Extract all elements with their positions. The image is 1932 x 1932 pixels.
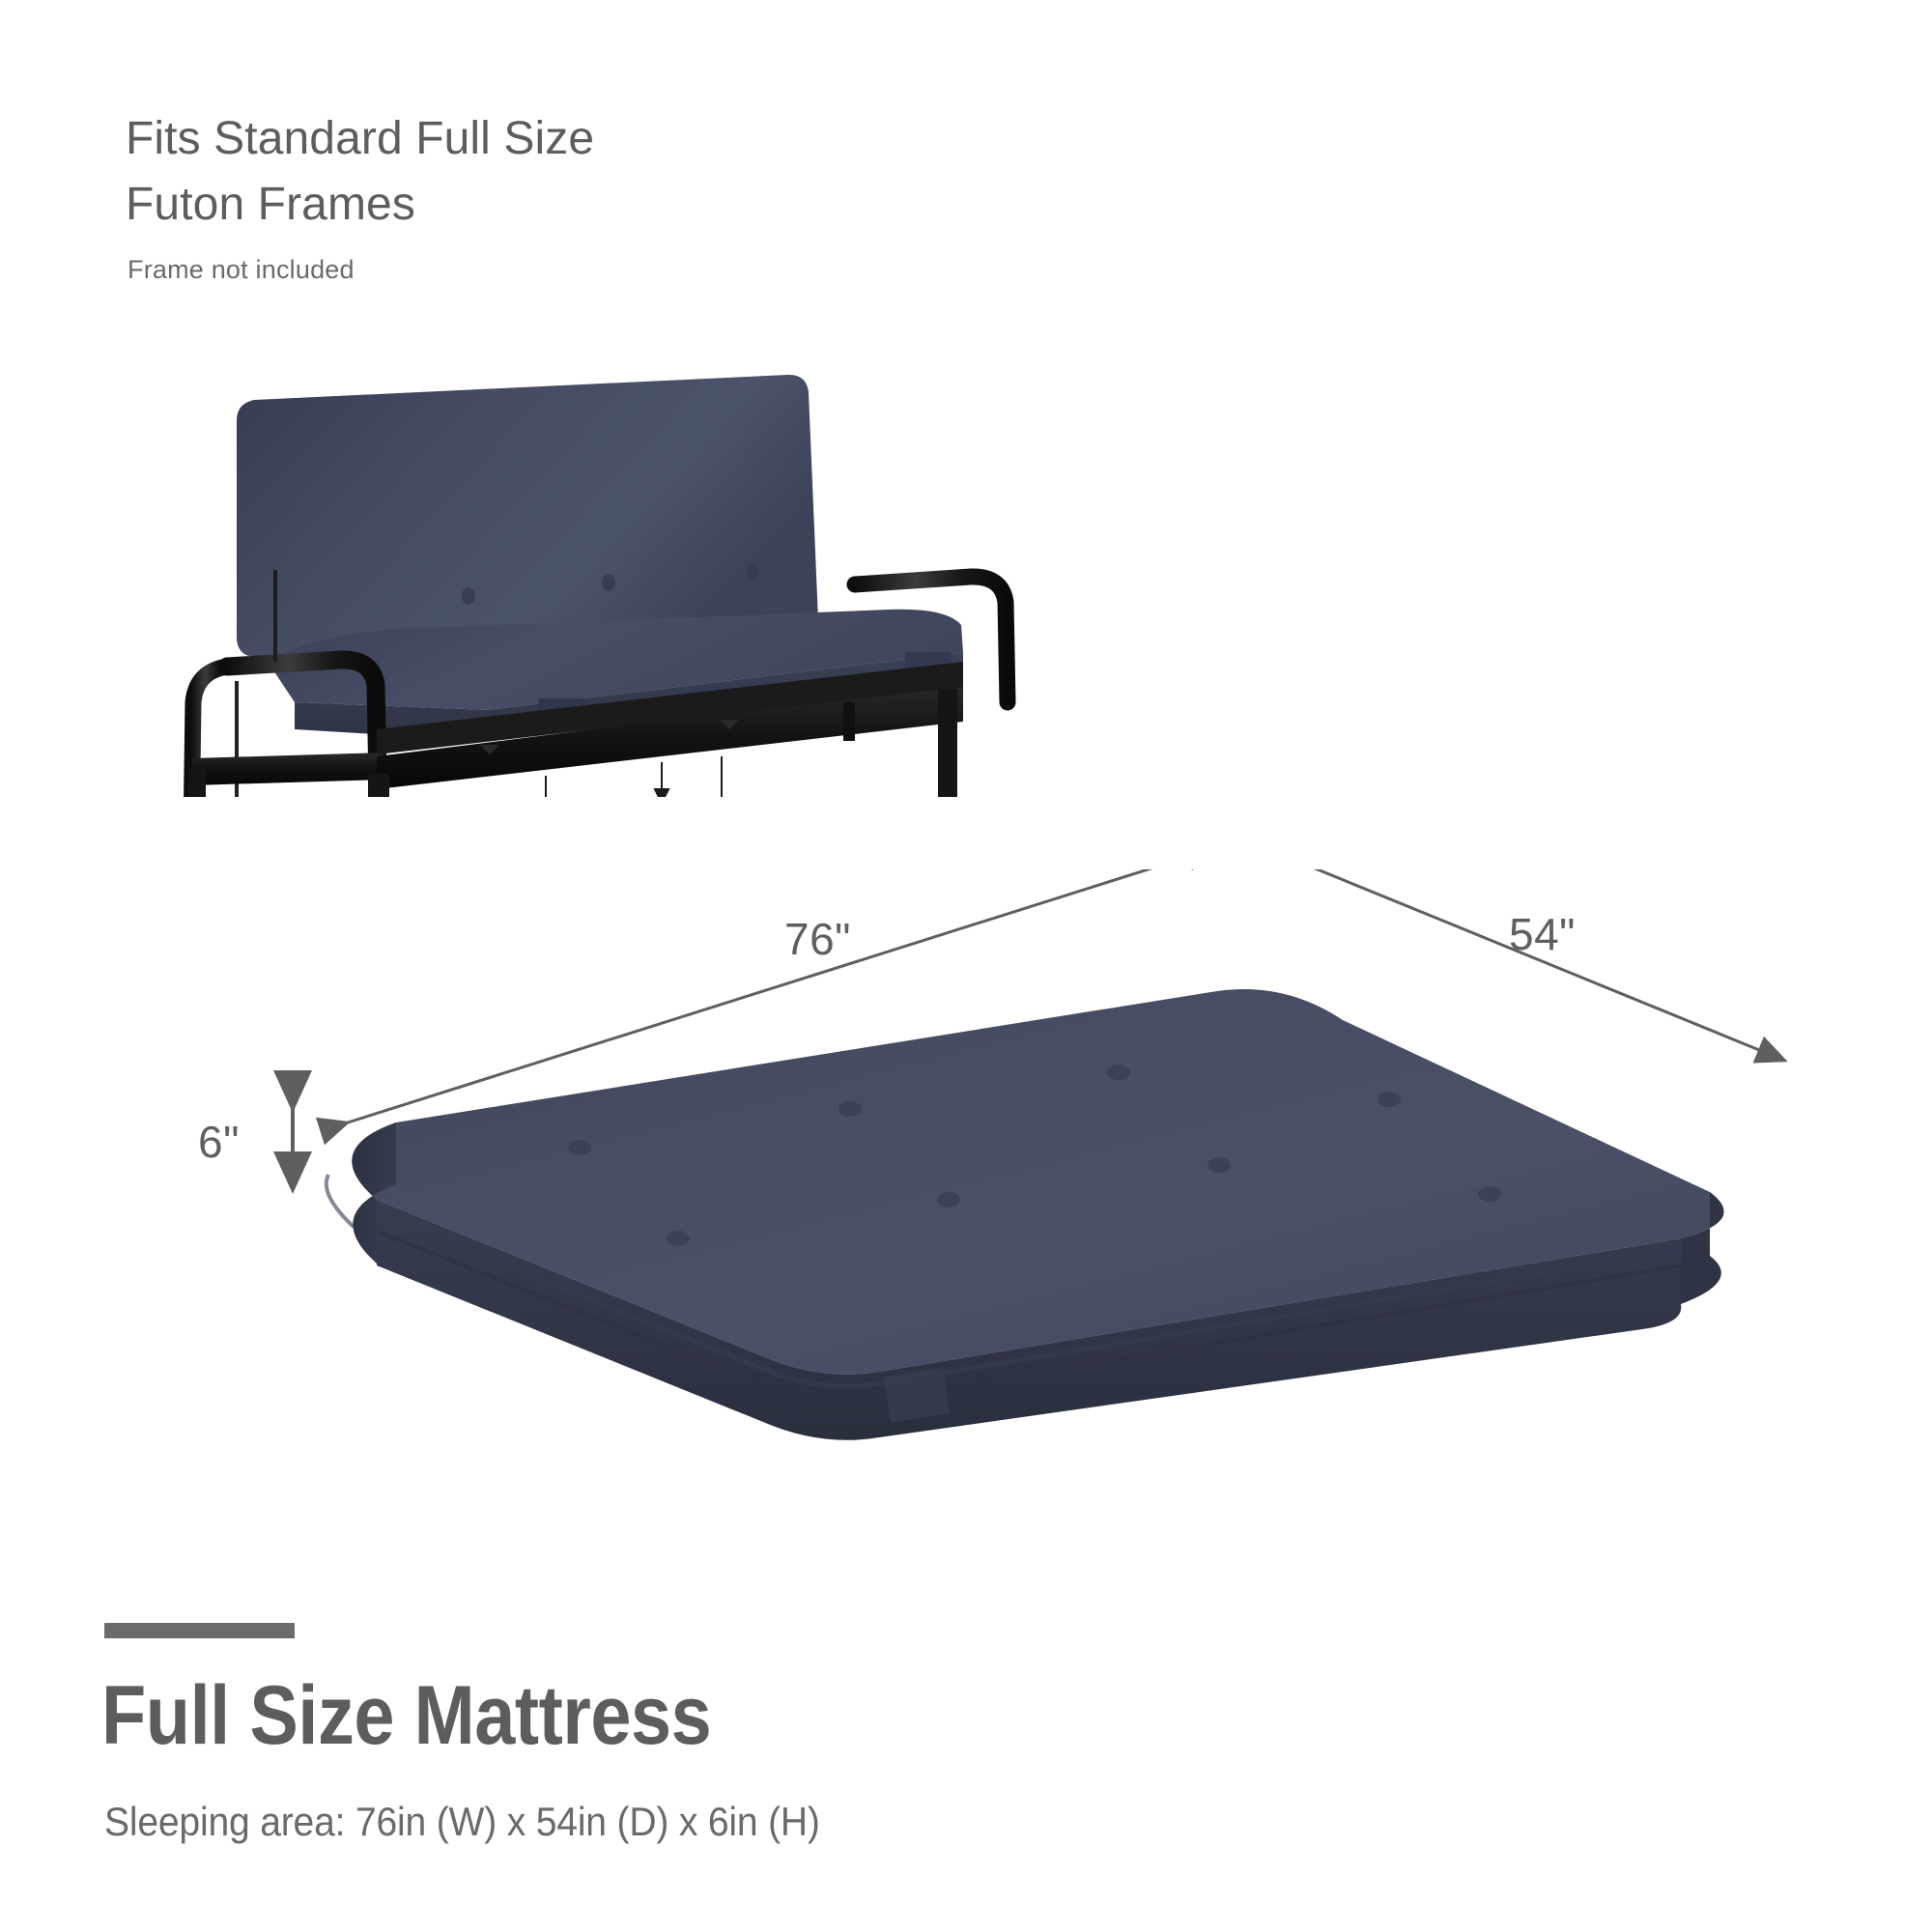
tuft-button: [1107, 1065, 1130, 1080]
futon-sofa-graphic: [179, 343, 1029, 797]
infographic-page: Fits Standard Full Size Futon Frames Fra…: [0, 0, 1932, 1932]
futon-sofa-illustration: [179, 343, 1029, 797]
page-title: Full Size Mattress: [101, 1669, 711, 1762]
spring-hook: [655, 762, 668, 797]
tuft-button: [746, 563, 759, 581]
spring-hook: [539, 776, 553, 797]
mattress-graphic: [261, 985, 1806, 1468]
header-note: Frame not included: [128, 255, 355, 285]
height-dimension-label: 6": [198, 1116, 240, 1168]
width-dimension-label: 76": [784, 913, 851, 965]
tuft-button: [1478, 1186, 1501, 1202]
page-subtitle: Sleeping area: 76in (W) x 54in (D) x 6in…: [104, 1799, 820, 1845]
depth-dimension-label: 54": [1509, 908, 1576, 960]
futon-back-cushion: [237, 375, 818, 657]
frame-leg-rear-left: [188, 768, 206, 797]
tuft-button: [602, 574, 615, 591]
accent-bar: [104, 1623, 295, 1638]
tuft-button: [462, 587, 475, 605]
tuft-button: [838, 1101, 862, 1117]
full-size-mattress-illustration: [261, 985, 1806, 1468]
mattress-label-tab: [884, 1367, 951, 1422]
frame-cross-support: [843, 702, 855, 741]
mattress-corner-seam: [327, 1175, 354, 1227]
frame-rail-left: [192, 753, 384, 785]
tuft-button: [568, 1140, 591, 1155]
header-title-line-1: Fits Standard Full Size: [126, 106, 995, 172]
frame-leg-right: [938, 689, 957, 797]
tuft-button: [1207, 1157, 1231, 1173]
spring-hook: [715, 756, 728, 797]
header-title: Fits Standard Full Size Futon Frames: [126, 106, 995, 238]
tuft-button: [937, 1192, 960, 1207]
tuft-button: [1378, 1092, 1401, 1107]
header-title-line-2: Futon Frames: [126, 172, 995, 238]
frame-leg-front-left: [368, 774, 389, 797]
tuft-button: [667, 1231, 690, 1246]
